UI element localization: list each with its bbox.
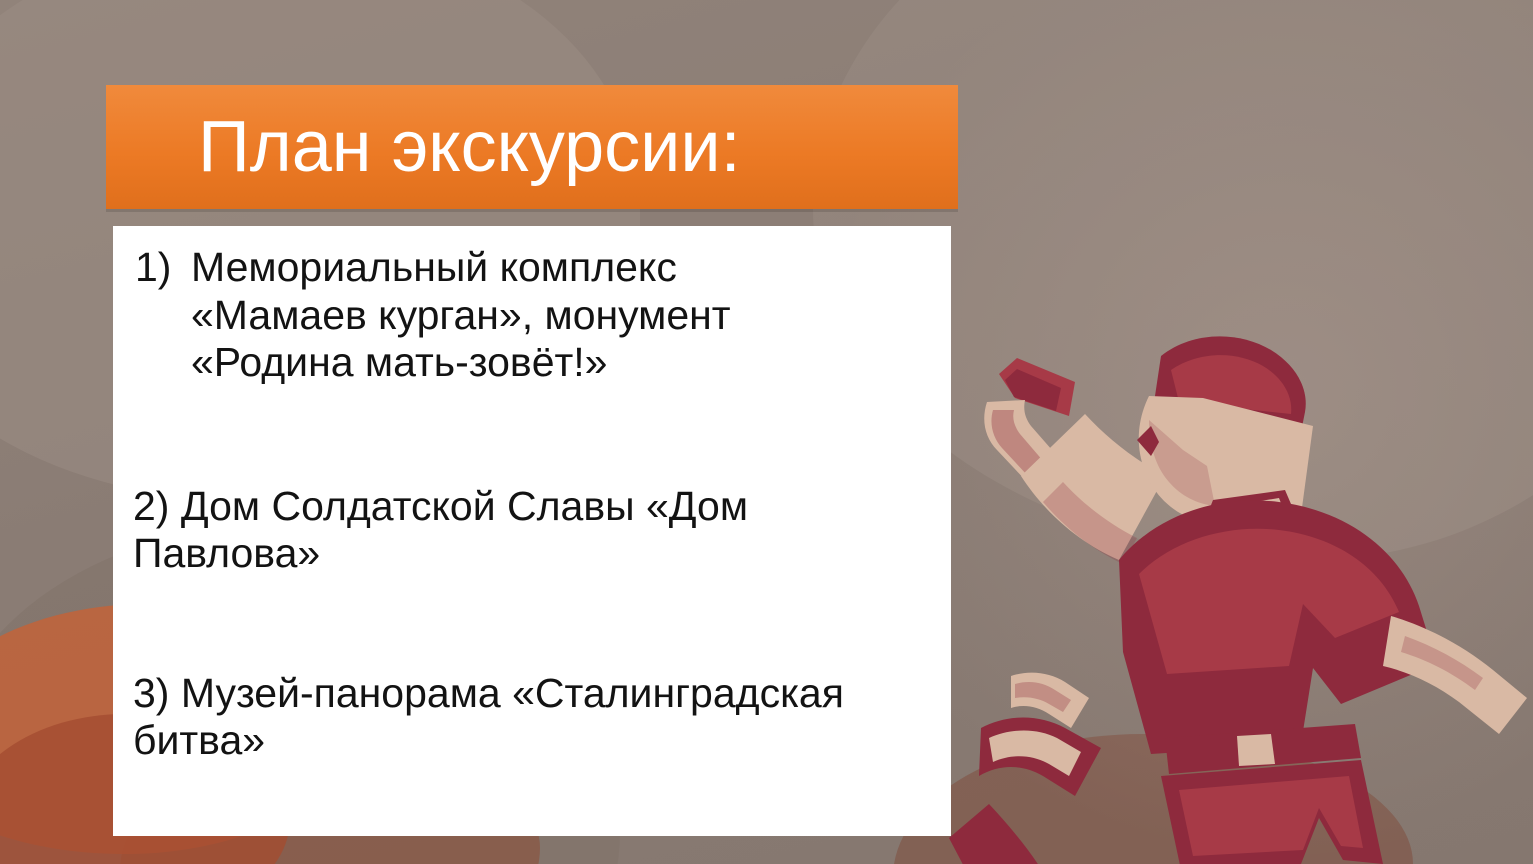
list-item-line: 3) Музей-панорама «Сталинградская <box>133 670 844 716</box>
list-item: 3) Музей-панорама «Сталинградская битва» <box>129 670 935 765</box>
soldier-illustration <box>893 244 1533 864</box>
list-item-line: «Мамаев курган», монумент <box>191 292 731 338</box>
list-spacer <box>129 387 935 483</box>
slide-body-card: 1) Мемориальный комплекс «Мамаев курган»… <box>113 226 951 836</box>
slide: План экскурсии: 1) Мемориальный комплекс… <box>0 0 1533 864</box>
list-item-content: Мемориальный комплекс «Мамаев курган», м… <box>191 244 935 387</box>
list-item-line: Павлова» <box>133 530 320 576</box>
list-item-line: «Родина мать-зовёт!» <box>191 339 608 385</box>
list-spacer <box>129 578 935 670</box>
slide-title-bar: План экскурсии: <box>106 85 958 209</box>
list-item-marker: 1) <box>135 244 191 387</box>
page-title: План экскурсии: <box>198 111 741 183</box>
list-item: 2) Дом Солдатской Славы «Дом Павлова» <box>129 483 935 578</box>
list-item-line: битва» <box>133 717 265 763</box>
excursion-plan-list: 1) Мемориальный комплекс «Мамаев курган»… <box>129 244 935 765</box>
list-item-line: 2) Дом Солдатской Славы «Дом <box>133 483 748 529</box>
list-item-line: Мемориальный комплекс <box>191 244 677 290</box>
list-item: 1) Мемориальный комплекс «Мамаев курган»… <box>129 244 935 387</box>
